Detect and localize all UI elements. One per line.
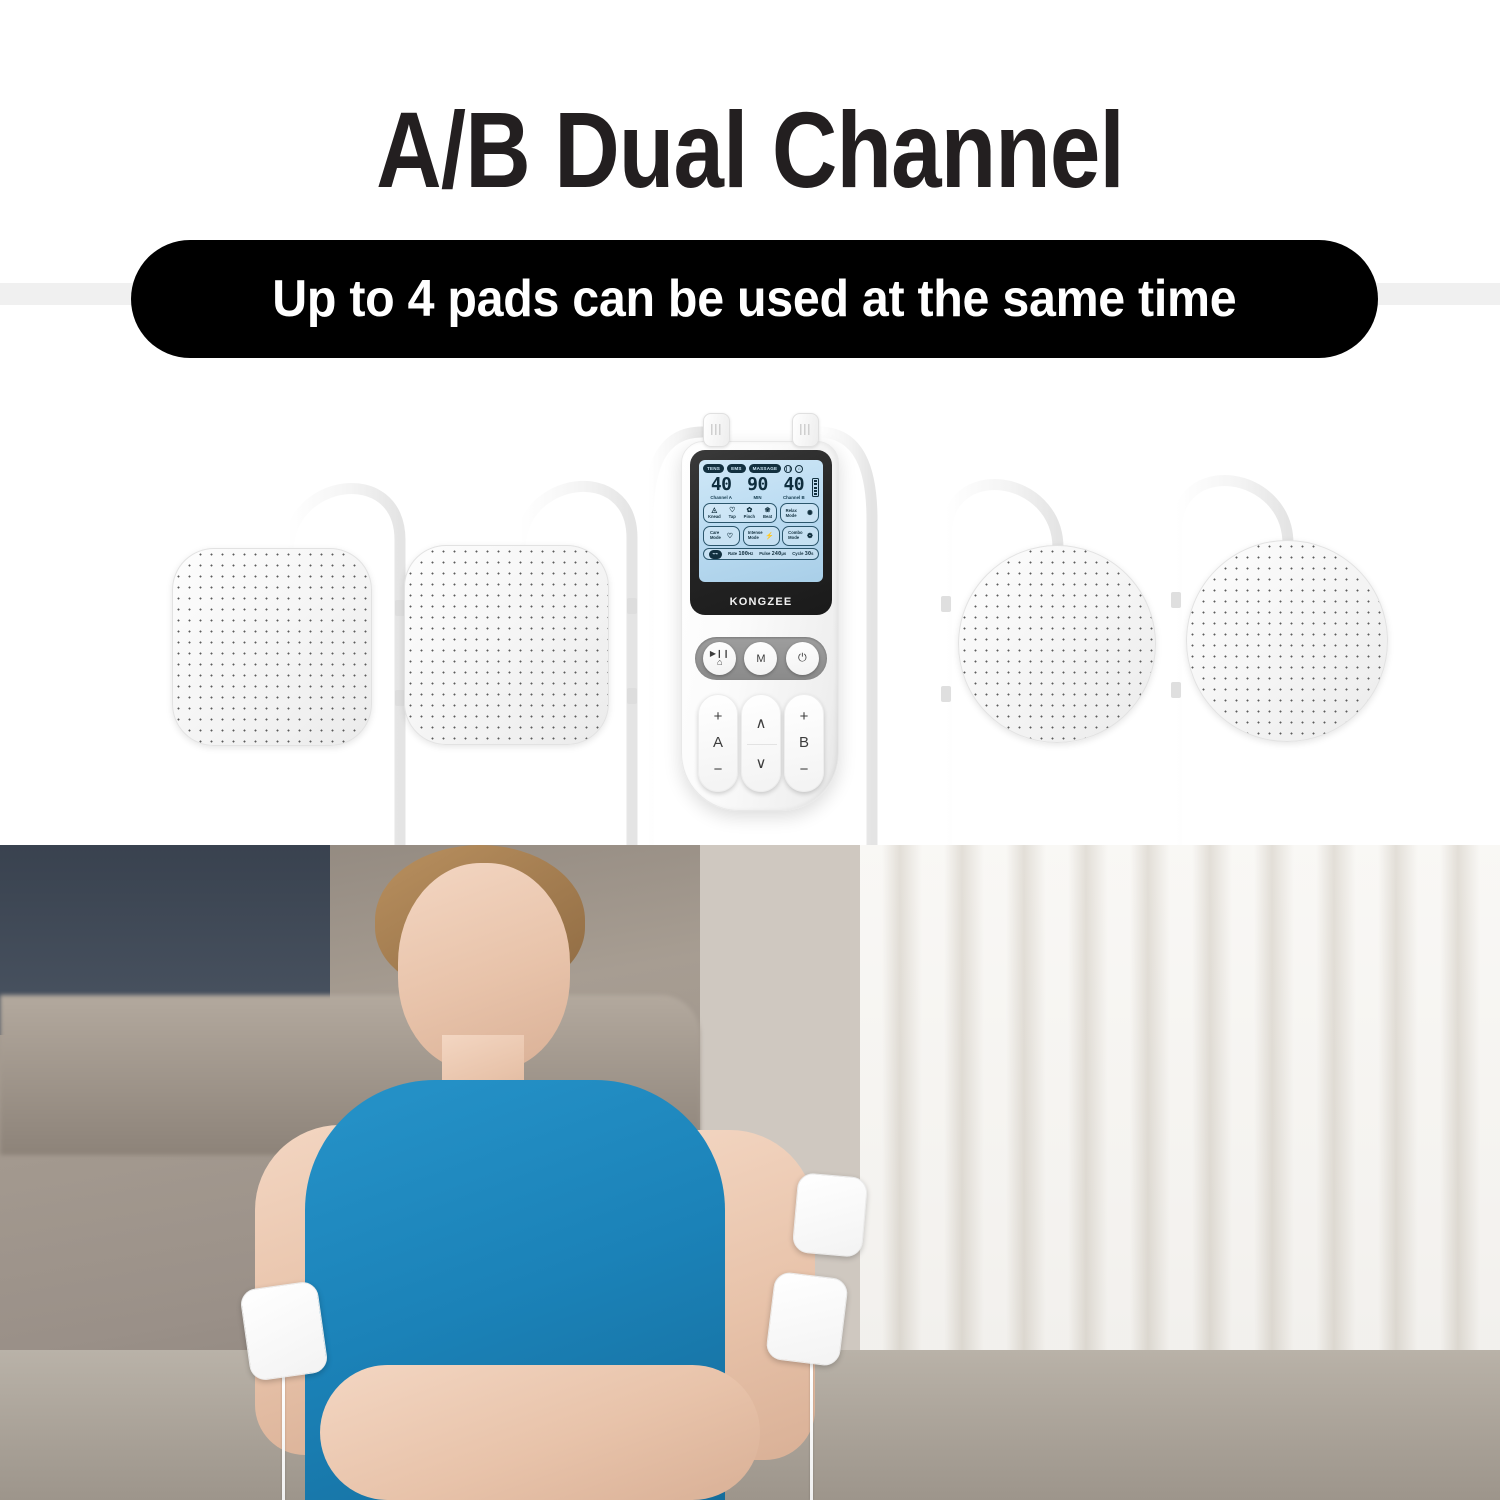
waveform-icon: ⌁⌁ [709,550,723,559]
intense-mode-label: Intense Mode [748,531,763,540]
technique-group: ◬ Knead ♡ Tap ✿ Pinch ❀ [703,503,777,523]
intense-mode-button[interactable]: Intense Mode ⚡ [743,526,780,546]
lcd-mode-row: TENS EMS MASSAGE ❙❙ ⌂ [703,464,819,473]
timer-label: MIN [739,495,775,500]
primary-button-bar: ▶❙❙ ⌂ M ⏻ [695,637,827,680]
navigator-control[interactable]: ∧ ∨ [741,694,781,792]
lcd-chip-massage[interactable]: MASSAGE [749,464,782,473]
battery-icon [812,478,819,497]
channel-a-control[interactable]: + A − [698,694,738,792]
forearms [320,1365,760,1500]
lock-icon: ⌂ [795,465,803,473]
square-pad-1 [172,548,372,746]
lcd-readout-row: 40 Channel A 90 MIN 40 Channel B [703,476,819,500]
connector-plug-a [703,413,730,447]
intense-mode-line2: Mode [748,535,759,540]
combo-mode-button[interactable]: Combo Mode ❁ [782,526,819,546]
electrode-wire-right [810,1361,813,1500]
care-mode-line2: Mode [710,535,721,540]
top-product-section: A/B Dual Channel Up to 4 pads can be use… [0,0,1500,845]
channel-b-label: Channel B [776,495,812,500]
device-bezel: TENS EMS MASSAGE ❙❙ ⌂ 40 Channel A 90 MI… [690,450,832,615]
param-pulse-name: Pulse [759,551,770,556]
round-pad-1 [958,545,1156,743]
care-mode-label: Care Mode [710,531,721,540]
combo-mode-label: Combo Mode [788,531,802,540]
technique-beat-label: Beat [763,514,772,519]
lcd-mode-row-2: Care Mode ♡ Intense Mode ⚡ [703,526,819,546]
heart-icon: ♡ [727,532,733,540]
lcd-parameter-bar: ⌁⌁ Rate 100Hz Pulse 240μs Cycle 30s [703,548,819,560]
play-pause-lock-button[interactable]: ▶❙❙ ⌂ [703,642,736,675]
navigate-down-icon[interactable]: ∨ [756,754,767,772]
channel-b-letter: B [799,734,809,751]
param-rate-value: 100 [738,551,748,557]
technique-knead-label: Knead [708,514,721,519]
power-button[interactable]: ⏻ [786,642,819,675]
technique-pinch[interactable]: ✿ Pinch [744,507,755,520]
channel-b-value: 40 [776,476,812,494]
technique-beat[interactable]: ❀ Beat [763,507,772,520]
combo-icon: ❁ [807,532,813,540]
lcd-technique-row: ◬ Knead ♡ Tap ✿ Pinch ❀ [703,503,819,523]
connector-plug-b [792,413,819,447]
model-figure [170,845,930,1500]
param-cycle: Cycle 30s [792,551,813,557]
channel-a-label: Channel A [703,495,739,500]
param-pulse: Pulse 240μs [759,551,786,557]
technique-pinch-label: Pinch [744,514,755,519]
relax-mode-line2: Mode [786,513,797,518]
timer-readout: 90 MIN [739,476,775,500]
technique-knead[interactable]: ◬ Knead [708,507,721,520]
channel-b-readout: 40 Channel B [776,476,812,500]
technique-tap[interactable]: ♡ Tap [729,507,736,520]
channel-a-decrease[interactable]: − [714,761,723,778]
applied-pad-right-arm-upper [792,1172,869,1258]
lifestyle-photo: Simultaneous targeted massage fo differe… [0,845,1500,1500]
channel-a-letter: A [713,734,723,751]
care-mode-button[interactable]: Care Mode ♡ [703,526,740,546]
channel-a-increase[interactable]: + [714,708,723,725]
lcd-chip-tens[interactable]: TENS [703,464,724,473]
channel-a-readout: 40 Channel A [703,476,739,500]
lightning-icon: ⚡ [765,532,774,540]
navigate-up-icon[interactable]: ∧ [756,714,767,732]
param-cycle-name: Cycle [792,551,803,556]
tens-unit-device: TENS EMS MASSAGE ❙❙ ⌂ 40 Channel A 90 MI… [681,441,839,811]
mode-button[interactable]: M [744,642,777,675]
relax-mode-label: Relax Mode [786,508,797,518]
relax-mode-button[interactable]: Relax Mode ✺ [780,503,820,523]
lcd-display: TENS EMS MASSAGE ❙❙ ⌂ 40 Channel A 90 MI… [699,460,823,582]
channel-b-decrease[interactable]: − [800,761,809,778]
lcd-chip-ems[interactable]: EMS [727,464,746,473]
param-pulse-unit: μs [781,551,786,556]
channel-b-increase[interactable]: + [800,708,809,725]
electrode-wire-left [282,1375,285,1500]
lock-glyph-icon: ⌂ [717,658,722,667]
applied-pad-right-arm-lower [765,1271,849,1367]
pause-icon: ❙❙ [784,465,792,473]
param-rate: Rate 100Hz [728,551,753,557]
param-rate-unit: Hz [748,551,753,556]
param-pulse-value: 240 [772,551,782,557]
round-pad-2 [1186,540,1388,742]
square-pad-2 [404,545,609,745]
brand-label: KONGZEE [690,596,832,608]
timer-value: 90 [739,476,775,494]
param-rate-name: Rate [728,551,737,556]
applied-pad-left-arm [239,1280,329,1382]
channel-a-value: 40 [703,476,739,494]
technique-tap-label: Tap [729,514,736,519]
relax-icon: ✺ [807,509,813,517]
channel-b-control[interactable]: + B − [784,694,824,792]
combo-mode-line2: Mode [788,535,799,540]
param-cycle-unit: s [811,551,813,556]
